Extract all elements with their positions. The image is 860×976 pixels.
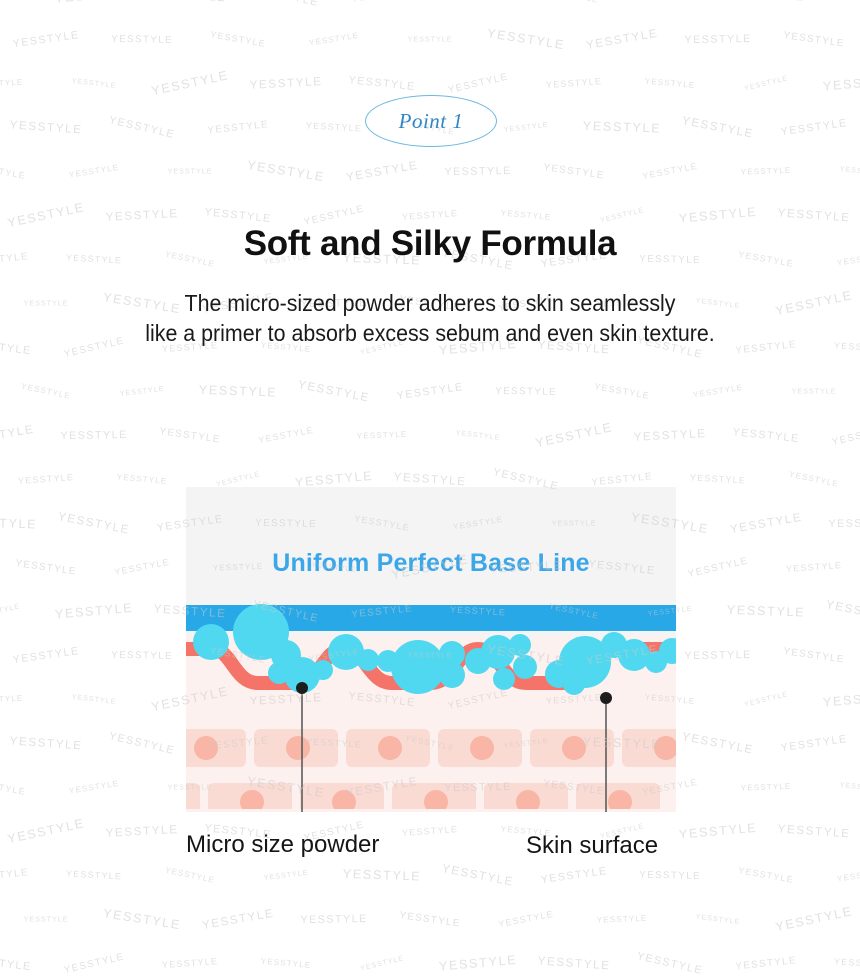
watermark-text: YESSTYLE: [540, 864, 608, 885]
watermark-text: YESSTYLE: [743, 74, 789, 93]
watermark-text: YESSTYLE: [822, 689, 860, 710]
watermark-text: YESSTYLE: [777, 206, 851, 224]
watermark-text: YESSTYLE: [343, 867, 422, 884]
watermark-text: YESSTYLE: [831, 423, 860, 448]
watermark-text: YESSTYLE: [111, 33, 173, 45]
watermark-text: YESSTYLE: [258, 425, 315, 446]
watermark-text: YESSTYLE: [60, 428, 128, 441]
watermark-text: YESSTYLE: [783, 645, 846, 664]
watermark-text: YESSTYLE: [308, 31, 359, 48]
watermark-text: YESSTYLE: [792, 387, 837, 395]
watermark-text: YESSTYLE: [68, 163, 119, 180]
watermark-text: YESSTYLE: [71, 692, 117, 705]
watermark-text: YESSTYLE: [537, 954, 611, 972]
watermark-text: YESSTYLE: [300, 912, 368, 925]
watermark-text: YESSTYLE: [438, 953, 517, 974]
watermark-text: YESSTYLE: [780, 116, 848, 137]
watermark-text: YESSTYLE: [548, 0, 599, 5]
watermark-text: YESSTYLE: [839, 780, 860, 793]
watermark-text: YESSTYLE: [0, 866, 29, 883]
watermark-text: YESSTYLE: [12, 644, 80, 665]
watermark-text: YESSTYLE: [732, 426, 800, 445]
watermark-text: YESSTYLE: [695, 912, 741, 925]
watermark-text: YESSTYLE: [207, 118, 270, 135]
watermark-text: YESSTYLE: [105, 823, 179, 840]
watermark-text: YESSTYLE: [393, 470, 467, 488]
watermark-text: YESSTYLE: [777, 822, 851, 840]
watermark-text: YESSTYLE: [678, 205, 757, 226]
watermark-text: YESSTYLE: [647, 0, 693, 2]
watermark-text: YESSTYLE: [645, 76, 696, 89]
watermark-text: YESSTYLE: [444, 164, 512, 177]
watermark-text: YESSTYLE: [825, 598, 860, 625]
dermis-cell-row-2: [186, 783, 660, 812]
watermark-text: YESSTYLE: [20, 381, 71, 400]
watermark-text: YESSTYLE: [0, 422, 35, 447]
watermark-text: YESSTYLE: [599, 206, 645, 225]
watermark-text: YESSTYLE: [534, 420, 614, 450]
diagram-graphic: [186, 487, 676, 812]
watermark-text: YESSTYLE: [204, 206, 272, 225]
watermark-text: YESSTYLE: [0, 161, 27, 181]
watermark-text: YESSTYLE: [441, 862, 515, 889]
page-subtitle-line-1: The micro-sized powder adheres to skin s…: [30, 288, 830, 318]
watermark-text: YESSTYLE: [783, 29, 846, 48]
watermark-text: YESSTYLE: [201, 906, 275, 931]
watermark-text: YESSTYLE: [727, 603, 806, 620]
watermark-text: YESSTYLE: [396, 380, 464, 401]
watermark-text: YESSTYLE: [57, 510, 131, 537]
watermark-text: YESSTYLE: [9, 734, 83, 752]
watermark-text: YESSTYLE: [743, 690, 789, 709]
watermark-text: YESSTYLE: [164, 865, 215, 884]
page-title: Soft and Silky Formula: [0, 224, 860, 264]
watermark-text: YESSTYLE: [741, 782, 792, 793]
watermark-text: YESSTYLE: [583, 119, 662, 136]
watermark-text: YESSTYLE: [636, 950, 704, 976]
watermark-text: YESSTYLE: [498, 909, 555, 930]
watermark-text: YESSTYLE: [351, 0, 414, 4]
watermark-text: YESSTYLE: [306, 121, 363, 134]
watermark-text: YESSTYLE: [15, 557, 78, 576]
watermark-text: YESSTYLE: [774, 904, 854, 934]
watermark-text: YESSTYLE: [503, 120, 549, 133]
watermark-text: YESSTYLE: [501, 208, 552, 221]
watermark-text: YESSTYLE: [633, 427, 707, 444]
watermark-text: YESSTYLE: [738, 865, 795, 885]
callout-label-skin-surface: Skin surface: [526, 832, 658, 860]
watermark-text: YESSTYLE: [68, 779, 119, 796]
diagram-bottom-mask: [186, 809, 676, 812]
watermark-text: YESSTYLE: [54, 0, 133, 5]
watermark-text: YESSTYLE: [111, 649, 173, 661]
point-badge-label: Point 1: [399, 109, 464, 134]
watermark-text: YESSTYLE: [402, 824, 459, 838]
watermark-text: YESSTYLE: [486, 26, 566, 52]
watermark-text: YESSTYLE: [729, 510, 803, 535]
watermark-text: YESSTYLE: [18, 472, 75, 486]
watermark-text: YESSTYLE: [150, 68, 230, 98]
watermark-text: YESSTYLE: [108, 730, 176, 757]
watermark-text: YESSTYLE: [0, 954, 32, 973]
page-subtitle: The micro-sized powder adheres to skin s…: [0, 288, 860, 348]
watermark-text: YESSTYLE: [690, 473, 747, 486]
watermark-text: YESSTYLE: [408, 35, 453, 43]
watermark-text: YESSTYLE: [735, 954, 798, 971]
watermark-text: YESSTYLE: [102, 906, 182, 932]
watermark-text: YESSTYLE: [153, 0, 227, 4]
watermark-text: YESSTYLE: [348, 74, 416, 93]
watermark-text: YESSTYLE: [0, 78, 23, 89]
watermark-text: YESSTYLE: [681, 730, 755, 757]
watermark-text: YESSTYLE: [450, 0, 507, 1]
watermark-text: YESSTYLE: [297, 378, 371, 405]
watermark-text: YESSTYLE: [828, 516, 860, 529]
watermark-text: YESSTYLE: [642, 161, 699, 182]
watermark-text: YESSTYLE: [402, 208, 459, 222]
watermark-text: YESSTYLE: [63, 951, 126, 976]
point-badge: Point 1: [365, 95, 497, 147]
watermark-text: YESSTYLE: [215, 470, 261, 489]
watermark-text: YESSTYLE: [825, 0, 860, 8]
watermark-text: YESSTYLE: [741, 166, 792, 177]
watermark-text: YESSTYLE: [24, 915, 69, 923]
skin-layer-diagram: Uniform Perfect Base Line: [186, 487, 676, 812]
watermark-text: YESSTYLE: [495, 385, 557, 397]
watermark-text: YESSTYLE: [0, 777, 27, 797]
watermark-text: YESSTYLE: [359, 954, 405, 973]
watermark-text: YESSTYLE: [0, 0, 21, 4]
watermark-text: YESSTYLE: [0, 515, 38, 532]
watermark-text: YESSTYLE: [455, 428, 501, 441]
watermark-text: YESSTYLE: [788, 469, 839, 488]
watermark-text: YESSTYLE: [71, 76, 117, 89]
watermark-text: YESSTYLE: [591, 470, 654, 487]
watermark-text: YESSTYLE: [168, 167, 213, 175]
watermark-text: YESSTYLE: [678, 821, 757, 842]
watermark-text: YESSTYLE: [6, 816, 86, 846]
watermark-text: YESSTYLE: [9, 118, 83, 136]
watermark-text: YESSTYLE: [597, 914, 648, 925]
watermark-text: YESSTYLE: [546, 76, 603, 90]
watermark-text: YESSTYLE: [261, 956, 312, 969]
watermark-text: YESSTYLE: [399, 909, 462, 928]
watermark-text: YESSTYLE: [210, 29, 267, 49]
watermark-text: YESSTYLE: [0, 602, 21, 621]
watermark-text: YESSTYLE: [199, 383, 278, 400]
watermark-text: YESSTYLE: [839, 164, 860, 177]
watermark-text: YESSTYLE: [249, 75, 323, 92]
watermark-text: YESSTYLE: [246, 158, 326, 184]
watermark-text: YESSTYLE: [836, 867, 860, 884]
watermark-text: YESSTYLE: [822, 73, 860, 94]
watermark-text: YESSTYLE: [119, 384, 165, 397]
watermark-text: YESSTYLE: [12, 28, 80, 49]
watermark-text: YESSTYLE: [681, 114, 755, 141]
watermark-text: YESSTYLE: [543, 161, 606, 180]
watermark-text: YESSTYLE: [594, 381, 651, 401]
watermark-text: YESSTYLE: [639, 869, 701, 881]
watermark-text: YESSTYLE: [447, 71, 510, 96]
watermark-text: YESSTYLE: [834, 957, 860, 970]
watermark-text: YESSTYLE: [159, 425, 222, 444]
watermark-text: YESSTYLE: [108, 114, 176, 141]
watermark-text: YESSTYLE: [585, 26, 659, 51]
watermark-text: YESSTYLE: [0, 694, 23, 705]
watermark-text: YESSTYLE: [105, 207, 179, 224]
watermark-text: YESSTYLE: [263, 868, 309, 881]
watermark-text: YESSTYLE: [692, 383, 743, 400]
watermark-text: YESSTYLE: [684, 32, 752, 45]
watermark-text: YESSTYLE: [54, 601, 133, 622]
page-subtitle-line-2: like a primer to absorb excess sebum and…: [30, 318, 830, 348]
watermark-text: YESSTYLE: [162, 956, 219, 970]
watermark-text: YESSTYLE: [684, 648, 752, 661]
watermark-text: YESSTYLE: [357, 430, 408, 441]
watermark-text: YESSTYLE: [66, 869, 123, 882]
watermark-text: YESSTYLE: [786, 560, 843, 574]
watermark-text: YESSTYLE: [687, 555, 750, 580]
watermark-text: YESSTYLE: [114, 557, 171, 578]
watermark-text: YESSTYLE: [727, 0, 806, 3]
watermark-text: YESSTYLE: [345, 158, 419, 183]
callout-label-micro-size-powder: Micro size powder: [186, 831, 379, 859]
watermark-text: YESSTYLE: [780, 732, 848, 753]
watermark-text: YESSTYLE: [117, 472, 168, 485]
watermark-text: YESSTYLE: [252, 0, 320, 8]
